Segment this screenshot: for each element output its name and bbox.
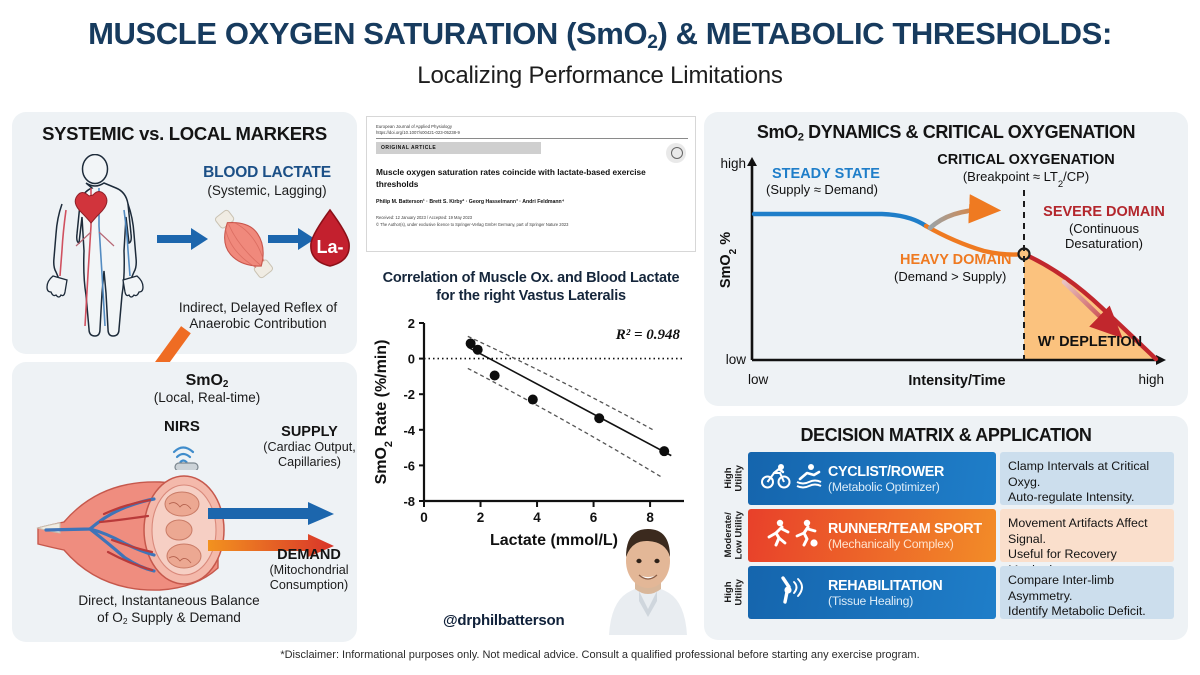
cyclist-icon bbox=[761, 463, 791, 494]
paper-doi: https://doi.org/10.1007/s00421-023-05238… bbox=[376, 130, 460, 136]
page-title-part1: MUSCLE OXYGEN SATURATION (SmO bbox=[88, 16, 647, 51]
supply-sublabel-line1: (Cardiac Output, bbox=[262, 440, 357, 455]
smo2-label-text: SmO bbox=[186, 372, 223, 389]
category-icon-group bbox=[756, 463, 828, 494]
category-label: RUNNER/TEAM SPORT bbox=[828, 521, 982, 537]
svg-text:Intensity/Time: Intensity/Time bbox=[908, 373, 1005, 389]
panel-c-title-a: SmO bbox=[757, 122, 798, 142]
paper-title: Muscle oxygen saturation rates coincide … bbox=[376, 166, 676, 190]
knee-joint-icon bbox=[775, 576, 809, 609]
svg-text:(Supply ≈ Demand): (Supply ≈ Demand) bbox=[766, 182, 878, 197]
panel-c-title-b: DYNAMICS & CRITICAL OXYGENATION bbox=[804, 122, 1136, 142]
application-note-line2: Identify Metabolic Deficit. bbox=[1008, 604, 1174, 620]
panel-b-footer: Direct, Instantaneous Balance of O2 Supp… bbox=[24, 593, 314, 626]
category-text: CYCLIST/ROWER (Metabolic Optimizer) bbox=[828, 464, 944, 494]
application-note-line1: Compare Inter-limb Asymmetry. bbox=[1008, 573, 1174, 604]
svg-text:4: 4 bbox=[533, 510, 541, 525]
panel-b-footer-line2: of O2 Supply & Demand bbox=[24, 610, 314, 627]
decision-matrix-grid: HighUtilityCYCLIST/ROWER (Metabolic Opti… bbox=[722, 452, 1174, 623]
panel-nirs-muscle: SmO2 (Local, Real-time) NIRS bbox=[12, 362, 357, 642]
category-text: REHABILITATION (Tissue Healing) bbox=[828, 578, 942, 608]
decision-matrix-row[interactable]: HighUtilityREHABILITATION (Tissue Healin… bbox=[722, 566, 1174, 619]
svg-text:SmO2 Rate (%/min): SmO2 Rate (%/min) bbox=[373, 340, 395, 485]
application-note: Clamp Intervals at Critical Oxyg. Auto-r… bbox=[1000, 452, 1174, 505]
smo2-label-group: SmO2 (Local, Real-time) bbox=[107, 372, 307, 405]
svg-text:2: 2 bbox=[477, 510, 485, 525]
social-handle: @drphilbatterson bbox=[443, 612, 564, 629]
page-title-subscript: 2 bbox=[647, 32, 657, 53]
paper-authors: Philip M. Batterson¹ · Brett S. Kirby² ·… bbox=[376, 199, 691, 205]
svg-text:Desaturation): Desaturation) bbox=[1065, 236, 1143, 251]
nirs-sensor-icon bbox=[164, 436, 212, 470]
svg-text:La-: La- bbox=[317, 237, 344, 257]
category-icon-group bbox=[756, 519, 828, 552]
svg-text:-8: -8 bbox=[403, 494, 415, 509]
panel-b-footer-line2-b: Supply & Demand bbox=[128, 610, 241, 625]
scatter-title-line1: Correlation of Muscle Ox. and Blood Lact… bbox=[366, 270, 696, 288]
application-note: Movement Artifacts Affect Signal. Useful… bbox=[1000, 509, 1174, 562]
panel-c-title: SmO2 DYNAMICS & CRITICAL OXYGENATION bbox=[704, 122, 1188, 143]
supply-arrow bbox=[208, 502, 336, 526]
panel-b-footer-line2-a: of O bbox=[97, 610, 123, 625]
svg-text:CRITICAL OXYGENATION: CRITICAL OXYGENATION bbox=[937, 152, 1115, 168]
demand-label-group: DEMAND (Mitochondrial Consumption) bbox=[260, 547, 358, 593]
svg-text:SmO2 %: SmO2 % bbox=[718, 232, 739, 288]
svg-text:low: low bbox=[748, 372, 769, 387]
panel-a-title: SYSTEMIC vs. LOCAL MARKERS bbox=[12, 123, 357, 145]
svg-text:W' DEPLETION: W' DEPLETION bbox=[1038, 334, 1142, 350]
demand-label: DEMAND bbox=[260, 547, 358, 563]
rower-icon bbox=[794, 463, 824, 494]
panel-b-footer-line1: Direct, Instantaneous Balance bbox=[24, 593, 314, 610]
svg-text:(Demand > Supply): (Demand > Supply) bbox=[894, 269, 1006, 284]
svg-text:(Breakpoint ≈ LT2/CP): (Breakpoint ≈ LT2/CP) bbox=[963, 169, 1089, 190]
open-access-icon bbox=[666, 143, 686, 163]
scatter-title-line2: for the right Vastus Lateralis bbox=[366, 288, 696, 306]
paper-metadata: Received: 12 January 2023 / Accepted: 19… bbox=[376, 215, 691, 229]
scatter-chart-title: Correlation of Muscle Ox. and Blood Lact… bbox=[366, 270, 696, 305]
utility-label-text: HighUtility bbox=[724, 579, 745, 606]
svg-text:high: high bbox=[720, 156, 746, 171]
smo2-label: SmO2 bbox=[107, 372, 307, 390]
panel-a-footer-line1: Indirect, Delayed Reflex of bbox=[162, 300, 354, 316]
application-note: Compare Inter-limb Asymmetry. Identify M… bbox=[1000, 566, 1174, 619]
category-text: RUNNER/TEAM SPORT (Mechanically Complex) bbox=[828, 521, 982, 551]
paper-article-type-badge: ORIGINAL ARTICLE bbox=[376, 142, 541, 154]
supply-label: SUPPLY bbox=[262, 424, 357, 440]
svg-text:-2: -2 bbox=[403, 388, 415, 403]
paper-journal-info: European Journal of Applied Physiology h… bbox=[376, 124, 460, 137]
category-sublabel: (Metabolic Optimizer) bbox=[828, 480, 944, 494]
svg-text:-4: -4 bbox=[403, 423, 415, 438]
category-label: CYCLIST/ROWER bbox=[828, 464, 944, 480]
svg-text:STEADY STATE: STEADY STATE bbox=[772, 166, 880, 182]
utility-label-text: HighUtility bbox=[724, 465, 745, 492]
smo2-dynamics-svg: highlowlowhighIntensity/TimeSmO2 %STEADY… bbox=[704, 142, 1188, 404]
paper-divider bbox=[376, 138, 688, 139]
svg-text:0: 0 bbox=[420, 510, 428, 525]
lactate-droplet-icon: La- bbox=[303, 207, 357, 273]
svg-text:0: 0 bbox=[408, 352, 415, 367]
svg-text:-6: -6 bbox=[403, 459, 415, 474]
paper-dates: Received: 12 January 2023 / Accepted: 19… bbox=[376, 215, 691, 222]
blood-lactate-label-group: BLOOD LACTATE (Systemic, Lagging) bbox=[182, 164, 352, 198]
panel-d-title: DECISION MATRIX & APPLICATION bbox=[704, 425, 1188, 446]
paper-copyright: © The Author(s), under exclusive licence… bbox=[376, 222, 691, 229]
decision-matrix-row[interactable]: HighUtilityCYCLIST/ROWER (Metabolic Opti… bbox=[722, 452, 1174, 505]
paper-excerpt-card: European Journal of Applied Physiology h… bbox=[366, 116, 696, 252]
svg-text:(Continuous: (Continuous bbox=[1069, 221, 1140, 236]
disclaimer-text: *Disclaimer: Informational purposes only… bbox=[0, 649, 1200, 661]
category-card[interactable]: CYCLIST/ROWER (Metabolic Optimizer) bbox=[748, 452, 996, 505]
application-note-line2: Auto-regulate Intensity. bbox=[1008, 490, 1174, 506]
utility-label-text: Moderate/Low Utility bbox=[724, 511, 745, 560]
soccer-player-icon bbox=[794, 519, 820, 552]
svg-text:low: low bbox=[726, 352, 747, 367]
category-sublabel: (Tissue Healing) bbox=[828, 594, 942, 608]
page-title-part2: ) & METABOLIC THRESHOLDS: bbox=[657, 16, 1111, 51]
page-title: MUSCLE OXYGEN SATURATION (SmO2) & METABO… bbox=[0, 18, 1200, 53]
nirs-label: NIRS bbox=[164, 418, 200, 435]
svg-text:SEVERE DOMAIN: SEVERE DOMAIN bbox=[1043, 204, 1165, 220]
svg-text:2: 2 bbox=[408, 316, 415, 331]
supply-sublabel-line2: Capillaries) bbox=[262, 455, 357, 470]
header: MUSCLE OXYGEN SATURATION (SmO2) & METABO… bbox=[0, 0, 1200, 104]
svg-text:R² = 0.948: R² = 0.948 bbox=[615, 327, 681, 343]
runner-icon bbox=[765, 519, 791, 552]
smo2-label-subscript: 2 bbox=[223, 379, 229, 390]
panel-smo2-dynamics: SmO2 DYNAMICS & CRITICAL OXYGENATION hig… bbox=[704, 112, 1188, 406]
infographic-root: MUSCLE OXYGEN SATURATION (SmO2) & METABO… bbox=[0, 0, 1200, 675]
page-subtitle: Localizing Performance Limitations bbox=[0, 62, 1200, 90]
category-label: REHABILITATION bbox=[828, 578, 942, 594]
category-sublabel: (Mechanically Complex) bbox=[828, 537, 982, 551]
application-note-line1: Clamp Intervals at Critical Oxyg. bbox=[1008, 459, 1174, 490]
demand-sublabel-line2: Consumption) bbox=[260, 578, 358, 593]
utility-label: Moderate/Low Utility bbox=[722, 509, 748, 562]
paper-article-type-label: ORIGINAL ARTICLE bbox=[376, 142, 541, 151]
category-card[interactable]: RUNNER/TEAM SPORT (Mechanically Complex) bbox=[748, 509, 996, 562]
human-body-diagram bbox=[36, 154, 154, 344]
supply-label-group: SUPPLY (Cardiac Output, Capillaries) bbox=[262, 424, 357, 470]
demand-sublabel-line1: (Mitochondrial bbox=[260, 563, 358, 578]
panel-decision-matrix: DECISION MATRIX & APPLICATION HighUtilit… bbox=[704, 416, 1188, 640]
arrow-body-to-muscle bbox=[155, 226, 211, 252]
blood-lactate-label: BLOOD LACTATE bbox=[182, 164, 352, 182]
category-icon-group bbox=[756, 576, 828, 609]
utility-label: HighUtility bbox=[722, 566, 748, 619]
svg-text:HEAVY DOMAIN: HEAVY DOMAIN bbox=[900, 252, 1011, 268]
smo2-sublabel: (Local, Real-time) bbox=[107, 390, 307, 405]
utility-label: HighUtility bbox=[722, 452, 748, 505]
muscle-cross-section-illustration bbox=[32, 470, 264, 592]
svg-text:high: high bbox=[1138, 372, 1164, 387]
application-note-line1: Movement Artifacts Affect Signal. bbox=[1008, 516, 1174, 547]
category-card[interactable]: REHABILITATION (Tissue Healing) bbox=[748, 566, 996, 619]
decision-matrix-row[interactable]: Moderate/Low UtilityRUNNER/TEAM SPORT (M… bbox=[722, 509, 1174, 562]
blood-lactate-sublabel: (Systemic, Lagging) bbox=[182, 183, 352, 198]
portrait-photo bbox=[595, 505, 701, 635]
